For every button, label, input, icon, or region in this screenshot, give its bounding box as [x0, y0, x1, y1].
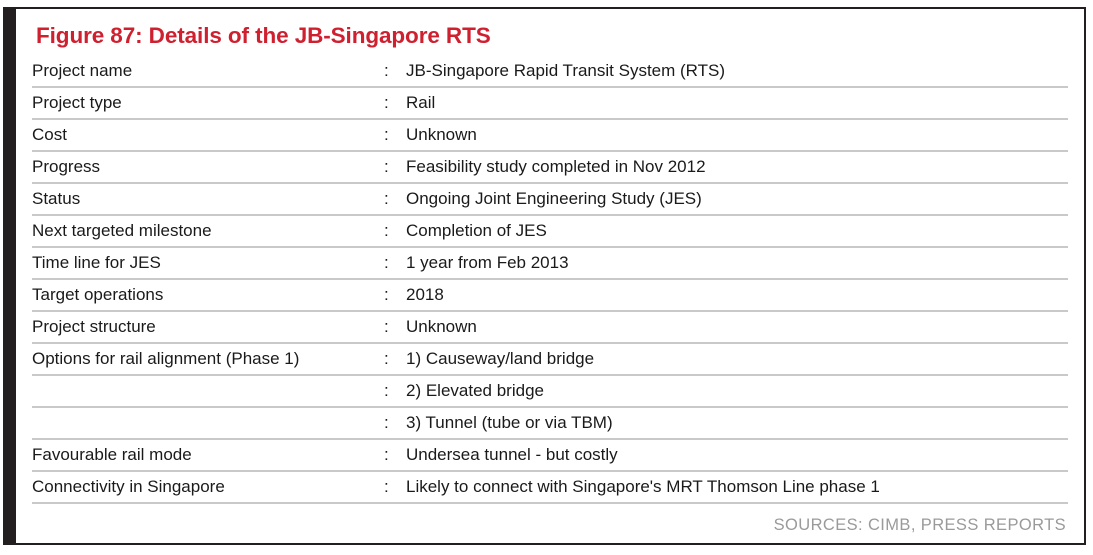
table-row: Connectivity in Singapore:Likely to conn…	[32, 471, 1068, 503]
row-value: 2018	[406, 279, 1068, 311]
table-row: Favourable rail mode:Undersea tunnel - b…	[32, 439, 1068, 471]
row-value: Undersea tunnel - but costly	[406, 439, 1068, 471]
table-row: Status:Ongoing Joint Engineering Study (…	[32, 183, 1068, 215]
row-value: Unknown	[406, 119, 1068, 151]
row-label: Cost	[32, 119, 384, 151]
row-label	[32, 375, 384, 407]
row-label: Status	[32, 183, 384, 215]
row-label: Progress	[32, 151, 384, 183]
figure-frame: Figure 87: Details of the JB-Singapore R…	[14, 7, 1086, 545]
figure-inner: Figure 87: Details of the JB-Singapore R…	[16, 9, 1084, 543]
row-separator: :	[384, 183, 406, 215]
details-table-body: Project name:JB-Singapore Rapid Transit …	[32, 55, 1068, 503]
details-table: Project name:JB-Singapore Rapid Transit …	[32, 55, 1068, 504]
row-separator: :	[384, 311, 406, 343]
row-value: 2) Elevated bridge	[406, 375, 1068, 407]
table-row: Project name:JB-Singapore Rapid Transit …	[32, 55, 1068, 87]
row-separator: :	[384, 343, 406, 375]
table-row: Cost:Unknown	[32, 119, 1068, 151]
row-value: 1 year from Feb 2013	[406, 247, 1068, 279]
row-label: Next targeted milestone	[32, 215, 384, 247]
row-label: Project type	[32, 87, 384, 119]
row-label: Project structure	[32, 311, 384, 343]
row-value: Ongoing Joint Engineering Study (JES)	[406, 183, 1068, 215]
row-value: 3) Tunnel (tube or via TBM)	[406, 407, 1068, 439]
table-row: Project type:Rail	[32, 87, 1068, 119]
row-separator: :	[384, 151, 406, 183]
row-value: Likely to connect with Singapore's MRT T…	[406, 471, 1068, 503]
table-row: Next targeted milestone:Completion of JE…	[32, 215, 1068, 247]
row-value: Feasibility study completed in Nov 2012	[406, 151, 1068, 183]
row-separator: :	[384, 247, 406, 279]
table-row: :3) Tunnel (tube or via TBM)	[32, 407, 1068, 439]
figure-canvas: Figure 87: Details of the JB-Singapore R…	[0, 0, 1093, 555]
row-separator: :	[384, 407, 406, 439]
row-label: Favourable rail mode	[32, 439, 384, 471]
row-separator: :	[384, 439, 406, 471]
row-label: Options for rail alignment (Phase 1)	[32, 343, 384, 375]
row-label: Project name	[32, 55, 384, 87]
row-separator: :	[384, 471, 406, 503]
sources-note: SOURCES: CIMB, PRESS REPORTS	[774, 516, 1066, 535]
table-row: :2) Elevated bridge	[32, 375, 1068, 407]
table-row: Time line for JES:1 year from Feb 2013	[32, 247, 1068, 279]
row-value: Rail	[406, 87, 1068, 119]
page-title: Figure 87: Details of the JB-Singapore R…	[36, 21, 1068, 51]
row-separator: :	[384, 375, 406, 407]
row-label: Target operations	[32, 279, 384, 311]
row-separator: :	[384, 119, 406, 151]
row-value: Completion of JES	[406, 215, 1068, 247]
row-value: 1) Causeway/land bridge	[406, 343, 1068, 375]
row-value: JB-Singapore Rapid Transit System (RTS)	[406, 55, 1068, 87]
row-separator: :	[384, 215, 406, 247]
row-separator: :	[384, 55, 406, 87]
table-row: Target operations:2018	[32, 279, 1068, 311]
table-row: Progress:Feasibility study completed in …	[32, 151, 1068, 183]
row-label: Connectivity in Singapore	[32, 471, 384, 503]
row-label: Time line for JES	[32, 247, 384, 279]
row-label	[32, 407, 384, 439]
table-row: Project structure:Unknown	[32, 311, 1068, 343]
row-value: Unknown	[406, 311, 1068, 343]
table-row: Options for rail alignment (Phase 1):1) …	[32, 343, 1068, 375]
row-separator: :	[384, 279, 406, 311]
row-separator: :	[384, 87, 406, 119]
